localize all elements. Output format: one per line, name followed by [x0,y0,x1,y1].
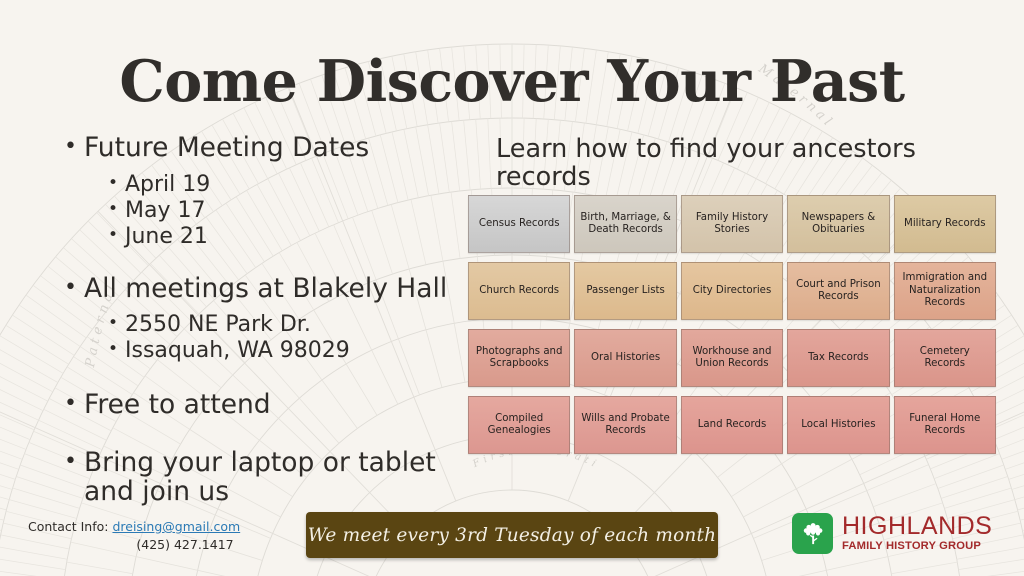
bullet-all-meetings-location: • All meetings at Blakely Hall [64,274,484,304]
sub-bullet-city-state-zip: • Issaquah, WA 98029 [108,338,484,364]
tree-icon [792,513,833,554]
contact-phone: (425) 427.1417 [28,536,298,554]
sub-bullet-april: • April 19 [108,172,484,198]
sub-bullet-may: • May 17 [108,198,484,224]
meeting-schedule-banner: We meet every 3rd Tuesday of each month [306,512,718,558]
record-type-card: City Directories [681,262,783,320]
page-title: Come Discover Your Past [0,52,1024,112]
record-type-label: City Directories [693,285,772,297]
logo-subtitle: FAMILY HISTORY GROUP [842,541,992,552]
meeting-schedule-text: We meet every 3rd Tuesday of each month [308,525,717,546]
record-type-label: Family History Stories [686,212,778,237]
sub-bullet-june: • June 21 [108,224,484,250]
record-type-label: Wills and Probate Records [579,413,671,438]
record-type-card: Immigration and Naturalization Records [894,262,996,320]
bullet-glyph: • [108,338,125,362]
bullet-free-to-attend: • Free to attend [64,390,484,420]
record-type-label: Birth, Marriage, & Death Records [579,212,671,237]
record-type-card: Tax Records [787,329,889,387]
record-type-card: Funeral Home Records [894,396,996,454]
bullet-bring-laptop: • Bring your laptop or tablet and join u… [64,448,484,507]
record-type-label: Photographs and Scrapbooks [473,346,565,371]
record-type-card: Family History Stories [681,195,783,253]
bullet-label: All meetings at Blakely Hall [84,274,447,304]
record-type-card: Land Records [681,396,783,454]
record-type-label: Passenger Lists [586,285,665,297]
record-type-card: Cemetery Records [894,329,996,387]
bullet-label: Bring your laptop or tablet and join us [84,448,484,507]
bullet-glyph: • [64,274,84,302]
record-type-card: Photographs and Scrapbooks [468,329,570,387]
bullet-glyph: • [108,224,125,248]
logo-name: HIGHLANDS [842,514,992,539]
sub-bullet-label: April 19 [125,172,210,198]
record-type-card: Passenger Lists [574,262,676,320]
record-type-label: Land Records [698,419,767,431]
bullet-label: Future Meeting Dates [84,133,369,163]
left-bullet-column: • Future Meeting Dates • April 19 • May … [64,133,484,509]
record-type-card: Military Records [894,195,996,253]
record-type-card: Compiled Genealogies [468,396,570,454]
record-type-label: Census Records [479,218,560,230]
bullet-future-meeting-dates: • Future Meeting Dates [64,133,484,163]
sub-bullet-street-address: • 2550 NE Park Dr. [108,312,484,338]
record-type-card: Oral Histories [574,329,676,387]
record-type-label: Compiled Genealogies [473,413,565,438]
contact-email-link[interactable]: dreising@gmail.com [112,519,240,534]
contact-label: Contact Info: [28,519,108,534]
record-type-label: Oral Histories [591,352,660,364]
records-section-heading: Learn how to find your ancestors records [496,135,1016,191]
record-type-label: Immigration and Naturalization Records [899,272,991,309]
bullet-glyph: • [108,198,125,222]
record-type-label: Cemetery Records [899,346,991,371]
record-type-card: Wills and Probate Records [574,396,676,454]
record-type-card: Census Records [468,195,570,253]
record-type-label: Court and Prison Records [792,279,884,304]
record-type-card: Birth, Marriage, & Death Records [574,195,676,253]
sub-bullet-label: June 21 [125,224,208,250]
sub-bullet-label: May 17 [125,198,205,224]
record-types-grid: Census RecordsBirth, Marriage, & Death R… [468,195,996,454]
record-type-card: Church Records [468,262,570,320]
record-type-label: Church Records [479,285,559,297]
record-type-card: Newspapers & Obituaries [787,195,889,253]
record-type-card: Workhouse and Union Records [681,329,783,387]
bullet-label: Free to attend [84,390,271,420]
sub-bullet-label: 2550 NE Park Dr. [125,312,311,338]
sub-bullet-label: Issaquah, WA 98029 [125,338,350,364]
record-type-label: Tax Records [808,352,869,364]
record-type-card: Court and Prison Records [787,262,889,320]
record-type-card: Local Histories [787,396,889,454]
bullet-glyph: • [64,448,84,476]
bullet-glyph: • [64,390,84,418]
contact-info: Contact Info: dreising@gmail.com (425) 4… [28,518,298,554]
record-type-label: Workhouse and Union Records [686,346,778,371]
record-type-label: Funeral Home Records [899,413,991,438]
organization-logo: HIGHLANDS FAMILY HISTORY GROUP [792,513,992,554]
record-type-label: Newspapers & Obituaries [792,212,884,237]
bullet-glyph: • [64,133,84,161]
bullet-glyph: • [108,312,125,336]
record-type-label: Military Records [904,218,985,230]
slide-canvas: Paternal Maternal First Generation Come … [0,0,1024,576]
bullet-glyph: • [108,172,125,196]
record-type-label: Local Histories [801,419,875,431]
logo-wordmark: HIGHLANDS FAMILY HISTORY GROUP [842,514,992,552]
